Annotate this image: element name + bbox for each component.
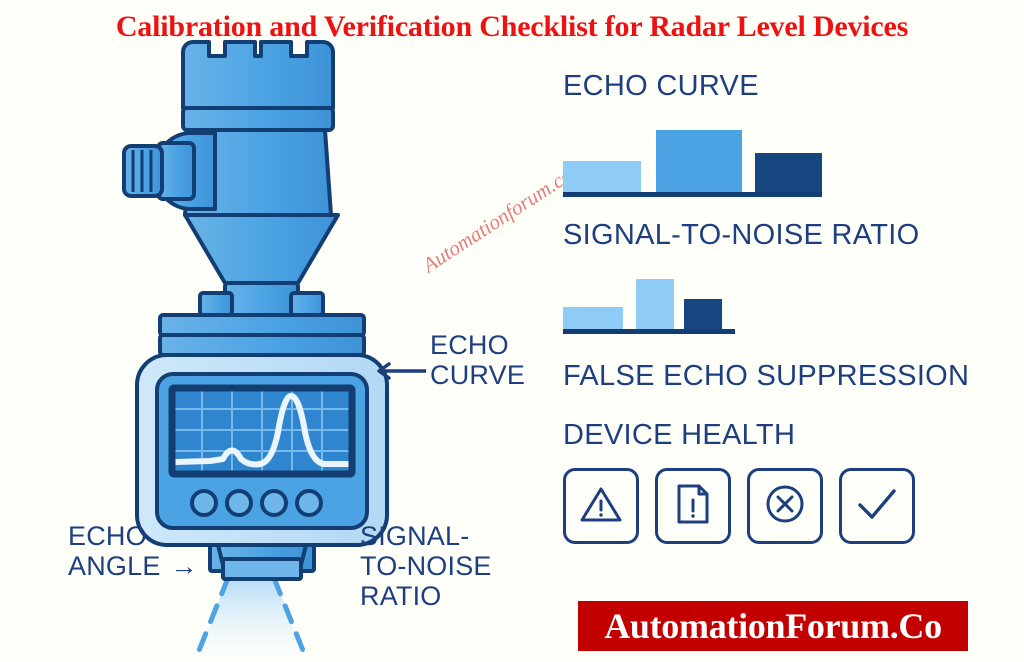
callout-echo-angle-line-1: ECHO <box>68 521 198 551</box>
callout-echo-angle: ECHO ANGLE → <box>68 521 198 581</box>
checklist-column: ECHO CURVE SIGNAL-TO-NOISE RATIO FALSE E… <box>563 70 1003 544</box>
bar-2 <box>636 279 674 330</box>
chart-snr-baseline <box>563 329 735 334</box>
chart-echo-curve <box>563 119 1003 197</box>
echo-angle-arrow-icon: → <box>171 551 198 581</box>
callout-echo-angle-line-2: ANGLE <box>68 551 161 581</box>
conduit-connector <box>124 133 215 209</box>
checklist-heading-signal-to-noise-ratio: SIGNAL-TO-NOISE RATIO <box>563 219 1003 252</box>
chart-echo-curve-baseline <box>563 192 822 197</box>
callout-echo-curve-line-1: ECHO <box>430 330 525 360</box>
callout-snr-line-1: SIGNAL- <box>360 521 492 551</box>
device-health-box-document-alert[interactable] <box>655 468 731 544</box>
logo-text: AutomationForum.Co <box>604 605 942 647</box>
checklist-heading-device-health: DEVICE HEALTH <box>563 419 1003 452</box>
chart-signal-to-noise-ratio <box>563 270 1003 334</box>
bar-1 <box>563 307 623 330</box>
automationforum-logo-banner[interactable]: AutomationForum.Co <box>578 601 968 651</box>
device-health-box-ok[interactable] <box>839 468 915 544</box>
callout-echo-curve-line-2: CURVE <box>430 360 525 390</box>
document-alert-icon <box>672 482 714 531</box>
callout-snr-line-3: RATIO <box>360 581 492 611</box>
error-circle-x-icon <box>763 482 807 531</box>
chart-snr-bars <box>563 279 722 330</box>
device-health-box-warning[interactable] <box>563 468 639 544</box>
callout-echo-curve: ECHO CURVE <box>430 330 525 390</box>
bar-3 <box>755 153 822 193</box>
bar-3 <box>684 299 722 330</box>
bar-1 <box>563 161 641 193</box>
infographic-canvas: Calibration and Verification Checklist f… <box>0 0 1024 662</box>
bar-2 <box>656 130 742 193</box>
checklist-heading-false-echo-suppression: FALSE ECHO SUPPRESSION <box>563 360 1003 393</box>
warning-triangle-icon <box>579 484 623 529</box>
callout-signal-to-noise-ratio: SIGNAL- TO-NOISE RATIO <box>360 521 492 612</box>
echo-curve-display <box>172 388 352 474</box>
checklist-heading-echo-curve: ECHO CURVE <box>563 70 1003 103</box>
callout-snr-line-2: TO-NOISE <box>360 551 492 581</box>
device-health-icon-row <box>563 468 1003 544</box>
chart-echo-curve-bars <box>563 130 822 193</box>
echo-curve-pointer-arrow <box>370 360 428 387</box>
check-mark-icon <box>854 484 900 529</box>
radar-beam-cone <box>196 576 306 658</box>
device-health-box-error[interactable] <box>747 468 823 544</box>
